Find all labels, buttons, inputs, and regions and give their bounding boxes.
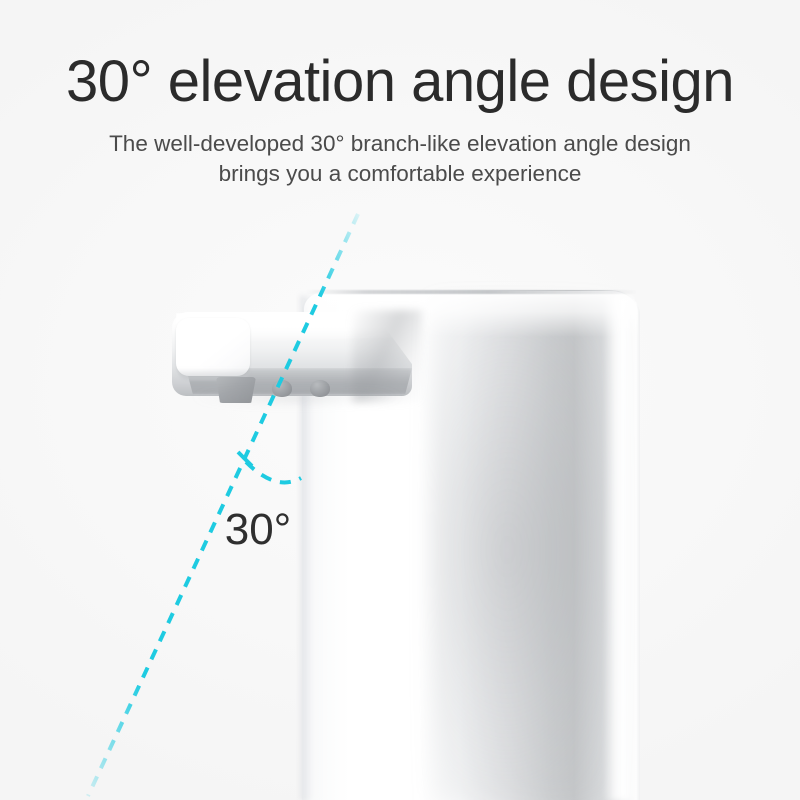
angle-arc xyxy=(246,462,301,482)
product-feature-slide: 30° 30° elevation angle design The well-… xyxy=(0,0,800,800)
angle-annotation-overlay xyxy=(0,0,800,800)
tilted-elevation-line xyxy=(88,214,358,796)
